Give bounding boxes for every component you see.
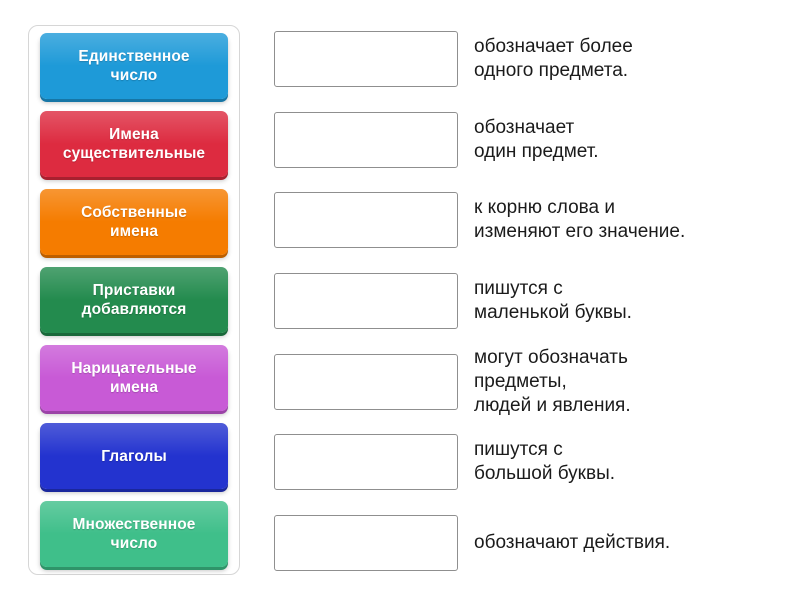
term-tile-label: Единственное число [78,47,189,85]
answer-text: обозначает один предмет. [474,116,599,164]
answer-text: пишутся с маленькой буквы. [474,277,632,325]
term-tile-2[interactable]: Собственные имена [40,189,228,255]
answer-text: обозначают действия. [474,531,670,555]
answer-row: могут обозначать предметы, людей и явлен… [274,348,784,416]
answer-row: пишутся с большой буквы. [274,428,784,496]
answer-row: обозначают действия. [274,509,784,577]
drop-zone-2[interactable] [274,192,458,248]
drop-zone-4[interactable] [274,354,458,410]
answer-text: могут обозначать предметы, людей и явлен… [474,346,631,418]
term-tile-3[interactable]: Приставки добавляются [40,267,228,333]
drop-zone-3[interactable] [274,273,458,329]
term-tile-5[interactable]: Глаголы [40,423,228,489]
term-tile-label: Множественное число [72,515,195,553]
drop-zone-1[interactable] [274,112,458,168]
drop-zone-5[interactable] [274,434,458,490]
answer-row: обозначает один предмет. [274,106,784,174]
answer-row: обозначает более одного предмета. [274,25,784,93]
draggable-terms-tray[interactable]: Единственное числоИмена существительныеС… [28,25,240,575]
term-tile-0[interactable]: Единственное число [40,33,228,99]
answer-slots: обозначает более одного предмета.обознач… [274,25,784,577]
term-tile-label: Имена существительные [63,125,205,163]
answer-row: пишутся с маленькой буквы. [274,267,784,335]
answer-text: обозначает более одного предмета. [474,35,633,83]
term-tile-4[interactable]: Нарицательные имена [40,345,228,411]
answer-row: к корню слова и изменяют его значение. [274,186,784,254]
term-tile-label: Собственные имена [81,203,187,241]
term-tile-6[interactable]: Множественное число [40,501,228,567]
term-tile-label: Приставки добавляются [82,281,187,319]
answer-text: пишутся с большой буквы. [474,438,615,486]
term-tile-label: Нарицательные имена [71,359,196,397]
answer-text: к корню слова и изменяют его значение. [474,196,685,244]
term-tile-label: Глаголы [101,447,167,466]
drop-zone-0[interactable] [274,31,458,87]
term-tile-1[interactable]: Имена существительные [40,111,228,177]
drop-zone-6[interactable] [274,515,458,571]
